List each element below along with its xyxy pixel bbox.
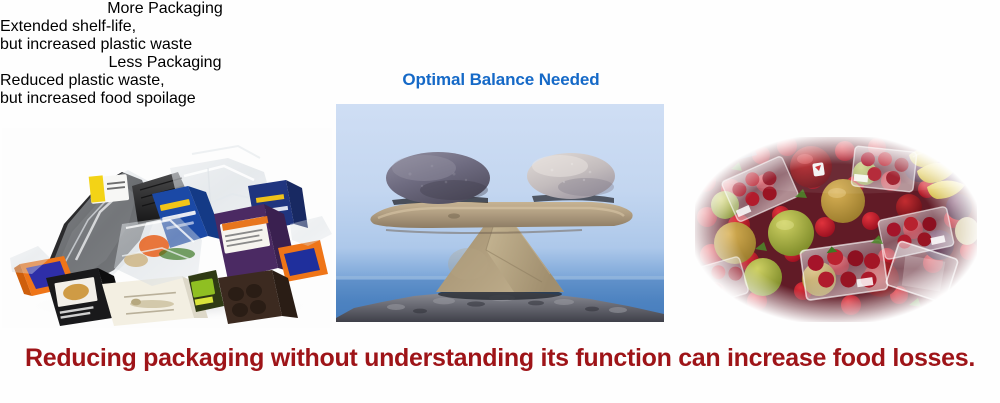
balanced-stones-image — [336, 104, 664, 322]
left-subtitle-line-1: Extended shelf-life, — [0, 18, 332, 36]
right-subtitle-line-2: but increased food spoilage — [0, 90, 338, 108]
unpackaged-fruit-produce-image — [695, 137, 977, 322]
right-column-subtitle: Reduced plastic waste, but increased foo… — [0, 72, 338, 108]
left-column-heading: More Packaging — [0, 0, 330, 18]
bottom-caption: Reducing packaging without understanding… — [0, 344, 1000, 373]
right-subtitle-line-1: Reduced plastic waste, — [0, 72, 338, 90]
center-column-title: Optimal Balance Needed — [336, 70, 666, 90]
left-subtitle-line-2: but increased plastic waste — [0, 36, 332, 54]
left-column-subtitle: Extended shelf-life, but increased plast… — [0, 18, 332, 54]
infographic-slide: More Packaging Extended shelf-life, but … — [0, 0, 1000, 403]
right-column-heading: Less Packaging — [0, 54, 330, 72]
plastic-packaging-waste-image — [2, 128, 332, 328]
